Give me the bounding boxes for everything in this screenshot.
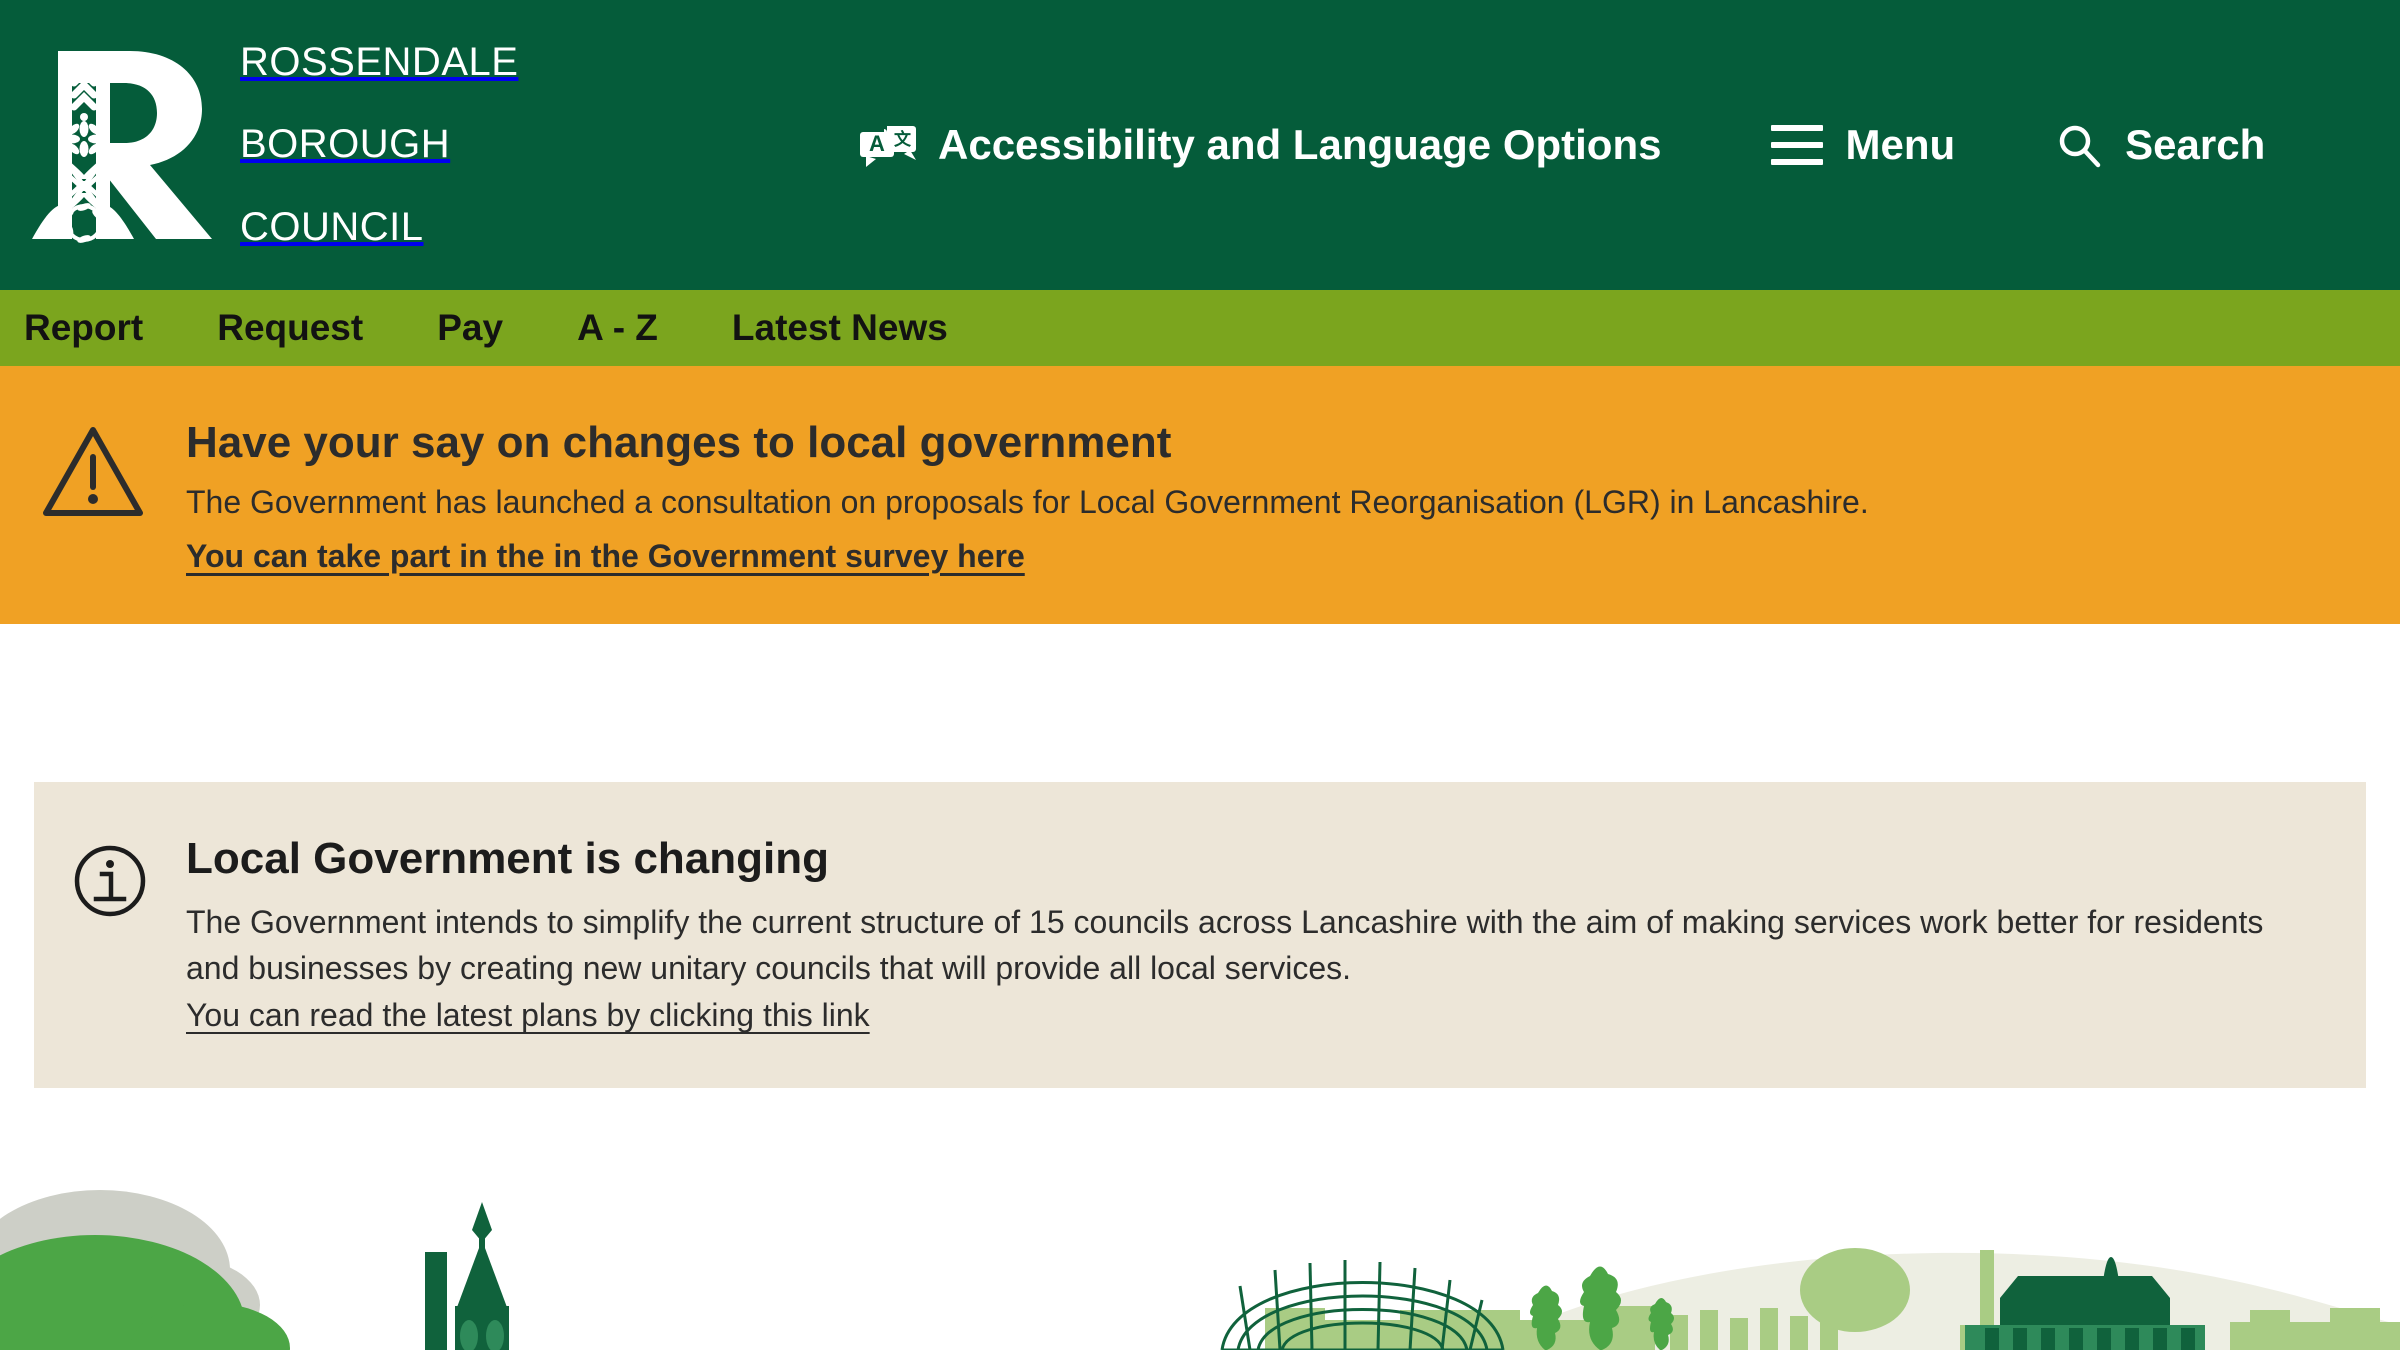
logo-line-3: COUNCIL xyxy=(240,207,518,248)
subnav-item-a-z[interactable]: A - Z xyxy=(540,307,695,349)
site-logo-wordmark: ROSSENDALE BOROUGH COUNCIL xyxy=(240,1,518,289)
alert-text: The Government has launched a consultati… xyxy=(186,481,2400,524)
info-panel-text: The Government intends to simplify the c… xyxy=(186,899,2306,992)
subnav-item-report[interactable]: Report xyxy=(20,307,180,349)
svg-text:A: A xyxy=(869,131,885,156)
info-panel-body: Local Government is changing The Governm… xyxy=(186,834,2366,1034)
alert-banner: Have your say on changes to local govern… xyxy=(0,366,2400,624)
subnav-item-request[interactable]: Request xyxy=(180,307,400,349)
logo-line-1: ROSSENDALE xyxy=(240,42,518,83)
rossendale-skyline-illustration xyxy=(0,1110,2400,1350)
subnav-item-pay[interactable]: Pay xyxy=(400,307,540,349)
logo-line-2: BOROUGH xyxy=(240,124,518,165)
accessibility-language-options-button[interactable]: 文 A Accessibility and Language Options xyxy=(860,120,1661,170)
menu-label: Menu xyxy=(1845,121,1955,169)
translate-icon: 文 A xyxy=(860,120,916,170)
site-header: ROSSENDALE BOROUGH COUNCIL 文 A Accessibi… xyxy=(0,0,2400,290)
alert-survey-link[interactable]: You can take part in the in the Governme… xyxy=(186,538,1025,575)
accessibility-label: Accessibility and Language Options xyxy=(938,121,1661,169)
subnav-item-latest-news[interactable]: Latest News xyxy=(695,307,985,349)
hamburger-icon xyxy=(1771,125,1823,165)
primary-subnav: Report Request Pay A - Z Latest News xyxy=(0,290,2400,366)
header-actions: 文 A Accessibility and Language Options M… xyxy=(860,0,2265,290)
rossendale-r-logo-icon xyxy=(24,45,234,245)
alert-body: Have your say on changes to local govern… xyxy=(186,418,2400,575)
search-icon xyxy=(2055,121,2103,169)
info-panel-title: Local Government is changing xyxy=(186,834,2306,885)
main-content: Local Government is changing The Governm… xyxy=(0,624,2400,1088)
info-circle-icon xyxy=(34,834,186,918)
warning-triangle-icon xyxy=(0,418,186,520)
menu-button[interactable]: Menu xyxy=(1771,121,1955,169)
search-label: Search xyxy=(2125,121,2265,169)
svg-text:文: 文 xyxy=(894,129,912,149)
search-button[interactable]: Search xyxy=(2055,121,2265,169)
alert-title: Have your say on changes to local govern… xyxy=(186,418,2400,469)
info-panel: Local Government is changing The Governm… xyxy=(34,782,2366,1088)
info-panel-plans-link[interactable]: You can read the latest plans by clickin… xyxy=(186,997,870,1034)
site-logo-link[interactable]: ROSSENDALE BOROUGH COUNCIL xyxy=(24,35,518,255)
